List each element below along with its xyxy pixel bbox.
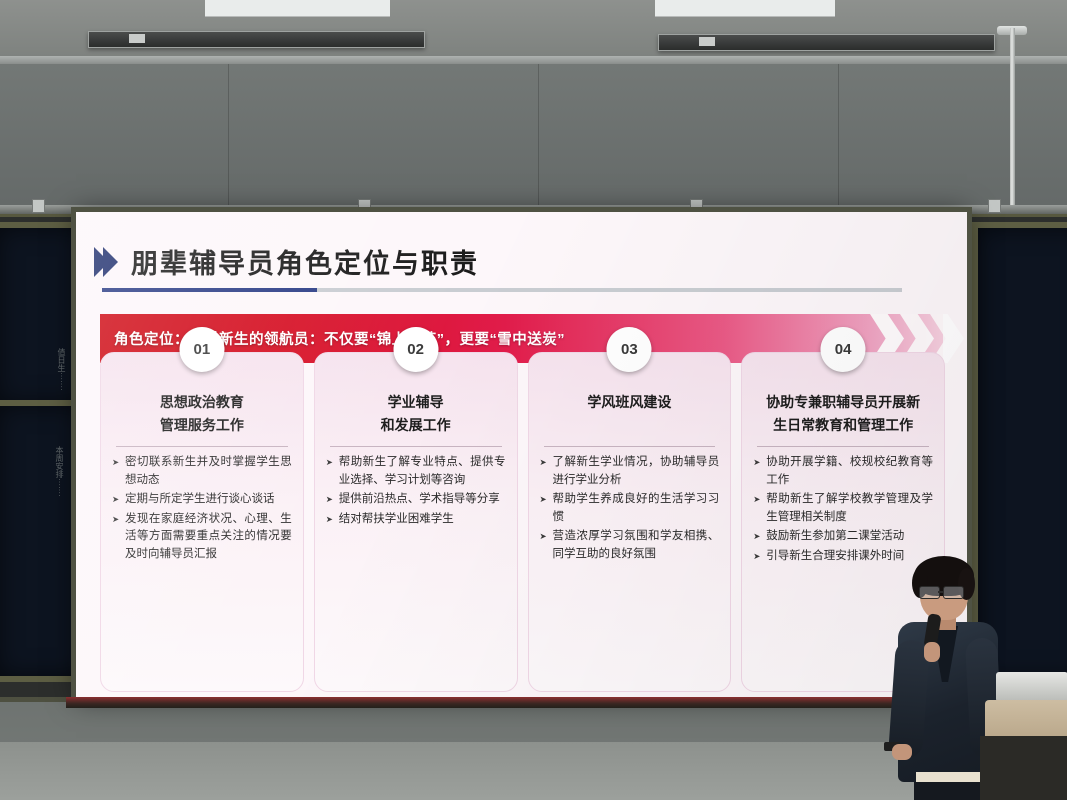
card-bullet-list: 密切联系新生并及时掌握学生思想动态 定期与所定学生进行谈心谈话 发现在家庭经济状… (112, 454, 292, 563)
card-heading-line1: 学风班风建设 (540, 391, 720, 414)
card-divider (330, 446, 502, 447)
card-bullet-list: 协助开展学籍、校规校纪教育等工作 帮助新生了解学校教学管理及学生管理相关制度 鼓… (753, 454, 933, 565)
card-heading: 学风班风建设 (540, 391, 720, 437)
card-bullet: 营造浓厚学习氛围和学友相携、同学互助的良好氛围 (540, 528, 720, 563)
presenter-lower-body (914, 782, 984, 800)
glasses-icon (919, 586, 969, 597)
ceiling-skylight-left (205, 0, 390, 17)
card-bullet: 帮助新生了解专业特点、提供专业选择、学习计划等咨询 (326, 454, 506, 489)
card-bullet: 结对帮扶学业困难学生 (326, 511, 506, 529)
wall-seam (228, 64, 229, 214)
card-number-badge: 04 (821, 327, 866, 372)
card-bullet: 了解新生学业情况，协助辅导员进行学业分析 (540, 454, 720, 489)
blackboard-clip (32, 199, 45, 213)
duty-card-01: 01 思想政治教育 管理服务工作 密切联系新生并及时掌握学生思想动态 定期与所定… (100, 352, 304, 692)
blackboard-clip (690, 199, 703, 213)
card-heading-line2 (540, 414, 720, 437)
duty-card-03: 03 学风班风建设 了解新生学业情况，协助辅导员进行学业分析 帮助学生养成良好的… (528, 352, 732, 692)
card-divider (116, 446, 288, 447)
card-heading-line1: 思想政治教育 (112, 391, 292, 414)
card-bullet: 帮助学生养成良好的生活学习习惯 (540, 491, 720, 526)
wall-seam (538, 64, 539, 214)
podium-shadow (980, 736, 1067, 800)
card-bullet-list: 了解新生学业情况，协助辅导员进行学业分析 帮助学生养成良好的生活学习习惯 营造浓… (540, 454, 720, 563)
card-bullet: 提供前沿热点、学术指导等分享 (326, 491, 506, 509)
double-chevron-icon (100, 247, 118, 277)
card-heading-line1: 学业辅导 (326, 391, 506, 414)
blackboard-clip (988, 199, 1001, 213)
ceiling-light-fixture-left (88, 31, 425, 48)
wall-seam (838, 64, 839, 214)
card-heading: 协助专兼职辅导员开展新 生日常教育和管理工作 (753, 391, 933, 437)
ceiling-light-fixture-right (658, 34, 995, 51)
back-wall (0, 64, 1067, 214)
duty-card-02: 02 学业辅导 和发展工作 帮助新生了解专业特点、提供专业选择、学习计划等咨询 … (314, 352, 518, 692)
duty-card-list: 01 思想政治教育 管理服务工作 密切联系新生并及时掌握学生思想动态 定期与所定… (100, 352, 945, 692)
card-heading-line1: 协助专兼职辅导员开展新 (753, 391, 933, 414)
projection-screen: 朋辈辅导员角色定位与职责 角色定位：本科新生的领航员：不仅要“锦上添花”，更要“… (76, 212, 967, 700)
card-heading-line2: 管理服务工作 (112, 414, 292, 437)
card-number-badge: 02 (393, 327, 438, 372)
slide-title: 朋辈辅导员角色定位与职责 (131, 242, 479, 281)
card-divider (757, 446, 929, 447)
ceiling-skylight-right (655, 0, 835, 17)
card-bullet: 发现在家庭经济状况、心理、生活等方面需要重点关注的情况要及时向辅导员汇报 (112, 511, 292, 564)
chalk-note-bottom: 本周安排······· (54, 446, 65, 497)
podium-desk (985, 700, 1067, 740)
card-bullet-list: 帮助新生了解专业特点、提供专业选择、学习计划等咨询 提供前沿热点、学术指导等分享… (326, 454, 506, 528)
card-heading-line2: 生日常教育和管理工作 (753, 414, 933, 437)
card-heading: 学业辅导 和发展工作 (326, 391, 506, 437)
card-bullet: 定期与所定学生进行谈心谈话 (112, 491, 292, 509)
blackboard-clip (358, 199, 371, 213)
card-bullet: 密切联系新生并及时掌握学生思想动态 (112, 454, 292, 489)
slide-title-row: 朋辈辅导员角色定位与职责 (100, 242, 479, 281)
podium-equipment (996, 672, 1067, 702)
chalk-note-top: 值日生······· (56, 348, 67, 391)
presenter-hand-holding-mic (924, 642, 940, 662)
title-underline-accent (102, 288, 317, 292)
presenter-hand-lower (892, 744, 912, 760)
card-bullet: 协助开展学籍、校规校纪教育等工作 (753, 454, 933, 489)
card-heading: 思想政治教育 管理服务工作 (112, 391, 292, 437)
classroom-scene: 值日生······· 本周安排······· 朋辈辅导员角色定位与职责 角色定位… (0, 0, 1067, 800)
card-number-badge: 03 (607, 327, 652, 372)
card-bullet: 鼓励新生参加第二课堂活动 (753, 528, 933, 546)
card-bullet: 帮助新生了解学校教学管理及学生管理相关制度 (753, 491, 933, 526)
card-divider (544, 446, 716, 447)
card-heading-line2: 和发展工作 (326, 414, 506, 437)
card-number-badge: 01 (179, 327, 224, 372)
screen-bottom-bezel (66, 697, 978, 708)
